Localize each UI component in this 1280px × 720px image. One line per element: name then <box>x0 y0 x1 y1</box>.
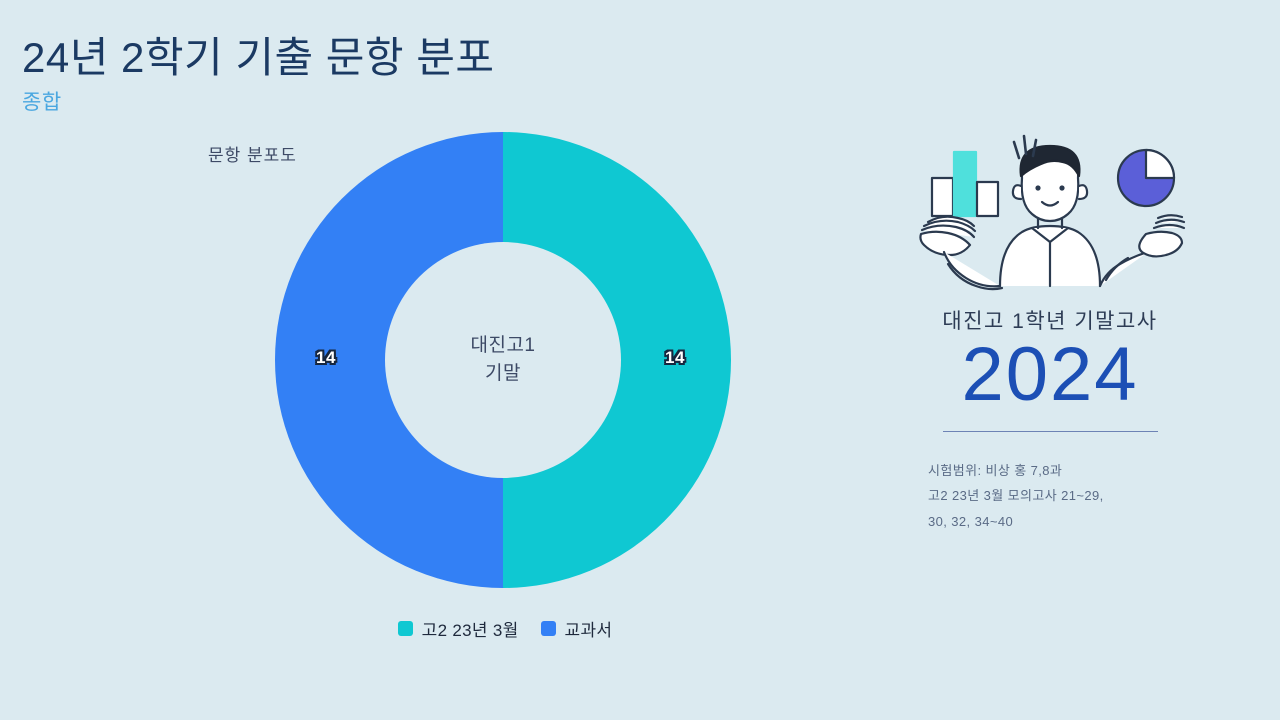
exam-info-panel: 대진고 1학년 기말고사 2024 시험범위: 비상 홍 7,8과 고2 23년… <box>880 130 1220 534</box>
person-holding-charts-icon <box>910 130 1190 295</box>
exam-year: 2024 <box>880 337 1220 413</box>
chart-area: 문항 분포도 대진고1 기말 14 14 고2 23년 3월 교과서 <box>0 0 800 720</box>
exam-name: 대진고 1학년 기말고사 <box>880 305 1220 335</box>
legend-swatch-blue <box>541 621 556 636</box>
donut-hole <box>385 242 621 478</box>
legend-label-go2-march: 고2 23년 3월 <box>422 616 519 641</box>
slice-value-go2-march: 14 <box>665 348 685 368</box>
exam-note-line-1: 시험범위: 비상 홍 7,8과 <box>928 458 1220 483</box>
chart-legend: 고2 23년 3월 교과서 <box>0 616 1010 641</box>
slice-value-textbook: 14 <box>316 348 336 368</box>
donut-chart: 대진고1 기말 <box>275 132 731 588</box>
donut-chart-svg <box>275 132 731 588</box>
panel-divider <box>943 431 1158 432</box>
legend-label-textbook: 교과서 <box>565 616 613 641</box>
exam-note-line-2: 고2 23년 3월 모의고사 21~29, <box>928 483 1220 508</box>
exam-notes: 시험범위: 비상 홍 7,8과 고2 23년 3월 모의고사 21~29, 30… <box>880 458 1220 534</box>
exam-note-line-3: 30, 32, 34~40 <box>928 509 1220 534</box>
legend-swatch-teal <box>398 621 413 636</box>
legend-item-textbook[interactable]: 교과서 <box>541 616 613 641</box>
legend-item-go2-march[interactable]: 고2 23년 3월 <box>398 616 519 641</box>
